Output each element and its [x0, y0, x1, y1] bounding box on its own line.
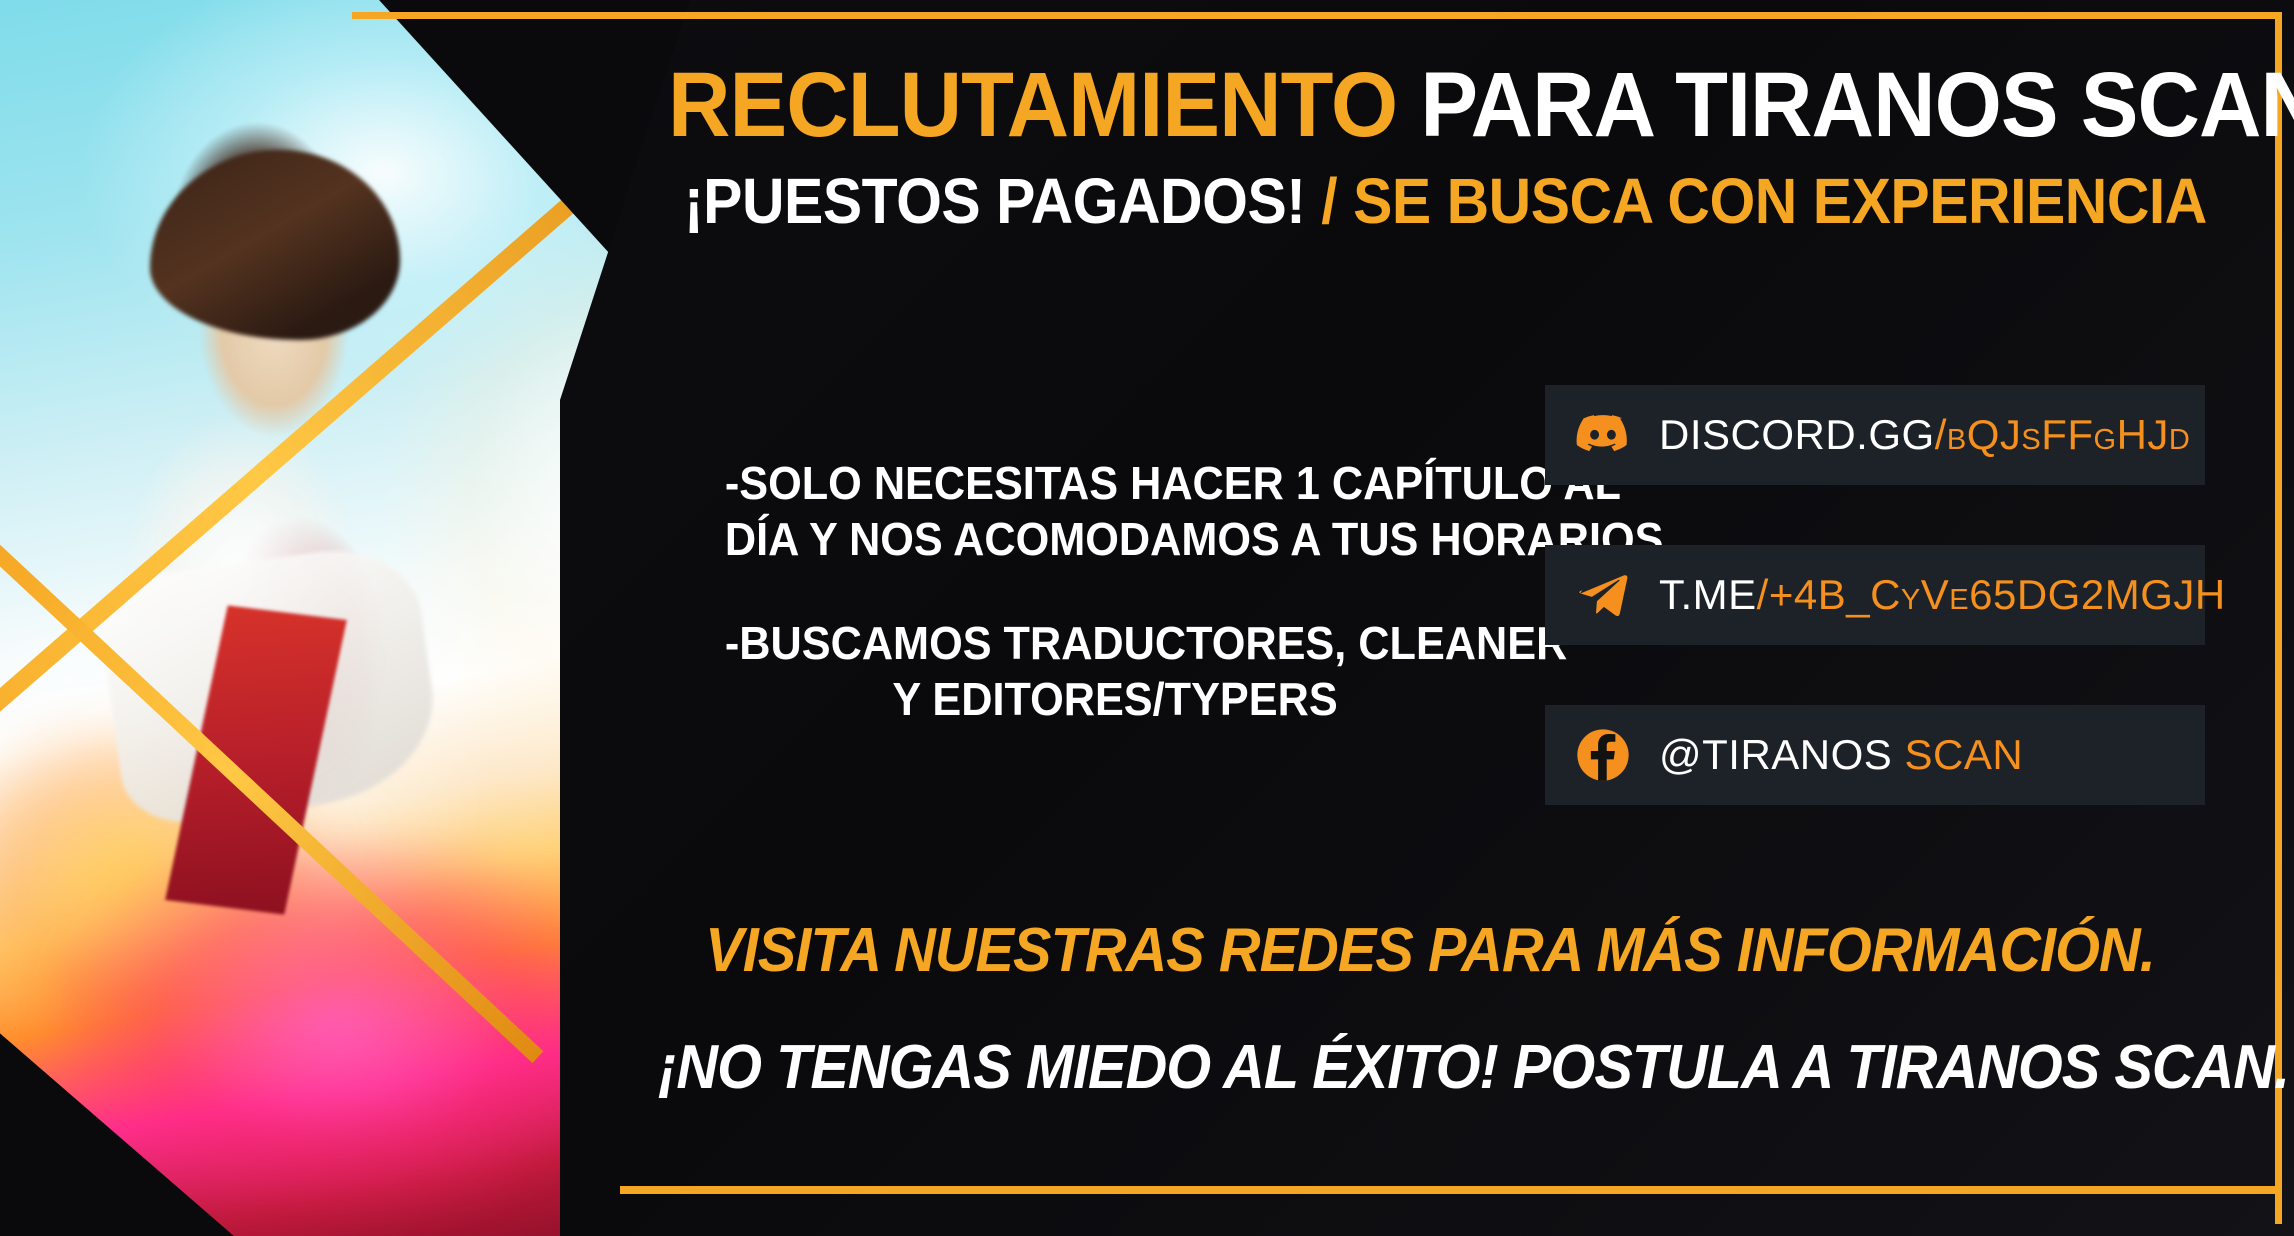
frame-border-top	[352, 12, 2282, 19]
requirement-schedule-line-2: DÍA Y NOS ACOMODAMOS A TUS HORARIOS	[725, 511, 1505, 567]
recruitment-banner: RECLUTAMIENTO PARA TIRANOS SCAN ¡PUESTOS…	[0, 0, 2294, 1236]
requirement-roles-line-2: Y EDITORES/TYPERS	[725, 671, 1505, 727]
page-title: RECLUTAMIENTO PARA TIRANOS SCAN	[668, 58, 2172, 154]
social-link-telegram-text: T.ME/+4B_CyVe65DG2MGJH	[1659, 571, 2226, 619]
page-subtitle: ¡PUESTOS PAGADOS! / SE BUSCA CON EXPERIE…	[684, 168, 2156, 235]
frame-border-bottom	[620, 1186, 2280, 1194]
discord-separator: /	[1935, 411, 1947, 458]
social-link-telegram[interactable]: T.ME/+4B_CyVe65DG2MGJH	[1545, 545, 2205, 645]
artwork-corner-mask-bottom	[0, 1016, 280, 1236]
requirement-schedule-line-1: -SOLO NECESITAS HACER 1 CAPÍTULO AL	[725, 455, 1505, 511]
social-link-discord-text: DISCORD.GG/bQJsFFgHJd	[1659, 411, 2190, 459]
page-subtitle-white: ¡PUESTOS PAGADOS!	[684, 165, 1305, 237]
requirement-item-schedule: -SOLO NECESITAS HACER 1 CAPÍTULO AL DÍA …	[725, 455, 1505, 567]
social-links-list: DISCORD.GG/bQJsFFgHJd T.ME/+4B_CyVe65DG2…	[1545, 385, 2205, 805]
social-link-discord[interactable]: DISCORD.GG/bQJsFFgHJd	[1545, 385, 2205, 485]
page-title-accent: RECLUTAMIENTO	[668, 54, 1397, 156]
cta-line-2: ¡NO TENGAS MIEDO AL ÉXITO! POSTULA A TIR…	[658, 1032, 2202, 1103]
discord-domain: DISCORD.GG	[1659, 411, 1935, 458]
call-to-action: VISITA NUESTRAS REDES PARA MÁS INFORMACI…	[600, 915, 2260, 1103]
social-link-facebook-text: @TIRANOS SCAN	[1659, 731, 2023, 779]
facebook-separator	[1892, 731, 1904, 778]
cta-line-1: VISITA NUESTRAS REDES PARA MÁS INFORMACI…	[658, 915, 2202, 986]
facebook-handle-suffix: SCAN	[1905, 731, 2024, 778]
discord-invite-code: bQJsFFgHJd	[1947, 411, 2191, 458]
facebook-icon	[1575, 727, 1631, 783]
telegram-icon	[1575, 567, 1631, 623]
requirements-list: -SOLO NECESITAS HACER 1 CAPÍTULO AL DÍA …	[725, 455, 1505, 727]
social-link-facebook[interactable]: @TIRANOS SCAN	[1545, 705, 2205, 805]
facebook-handle: @TIRANOS	[1659, 731, 1892, 778]
page-subtitle-accent: / SE BUSCA CON EXPERIENCIA	[1305, 165, 2206, 237]
telegram-separator: /	[1757, 571, 1769, 618]
requirement-item-roles: -BUSCAMOS TRADUCTORES, CLEANER Y EDITORE…	[725, 615, 1505, 727]
telegram-invite-code: +4B_CyVe65DG2MGJH	[1769, 571, 2226, 618]
page-title-rest: PARA TIRANOS SCAN	[1397, 54, 2294, 156]
telegram-domain: T.ME	[1659, 571, 1757, 618]
discord-icon	[1575, 407, 1631, 463]
requirement-roles-line-1: -BUSCAMOS TRADUCTORES, CLEANER	[725, 615, 1505, 671]
